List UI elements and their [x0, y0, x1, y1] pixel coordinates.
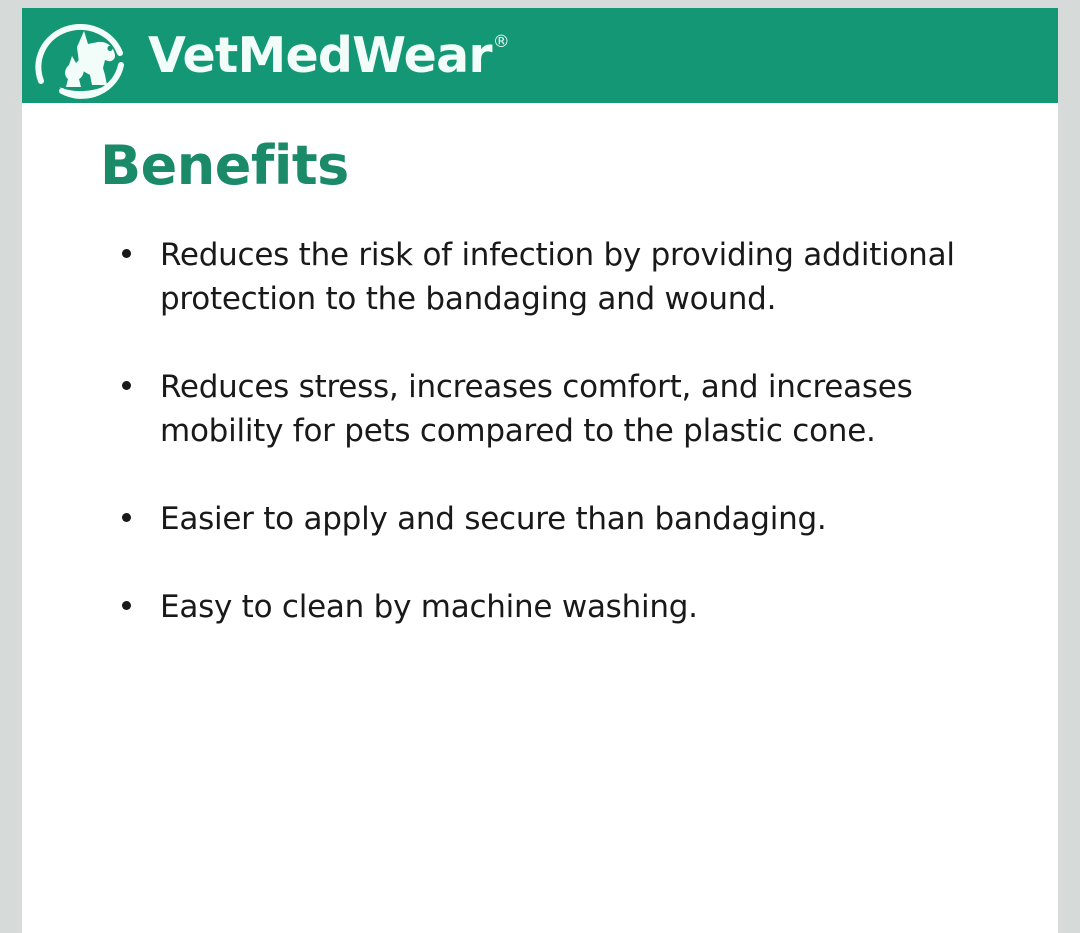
bullet-icon [122, 249, 131, 258]
list-item: Easier to apply and secure than bandagin… [118, 497, 998, 541]
dog-cat-silhouette-icon [28, 13, 130, 101]
list-item-text: Reduces the risk of infection by providi… [160, 237, 955, 317]
list-item: Easy to clean by machine washing. [118, 585, 998, 629]
list-item-text: Easy to clean by machine washing. [160, 589, 698, 625]
brand-wordmark: VetMedWear ® [148, 31, 510, 80]
slide-content: Benefits Reduces the risk of infection b… [22, 103, 1058, 933]
bullet-icon [122, 381, 131, 390]
bullet-icon [122, 513, 131, 522]
list-item-text: Reduces stress, increases comfort, and i… [160, 369, 912, 449]
list-item: Reduces stress, increases comfort, and i… [118, 365, 998, 453]
bullet-icon [122, 601, 131, 610]
brand-name: VetMedWear [148, 31, 492, 80]
list-item: Reduces the risk of infection by providi… [118, 233, 998, 321]
list-item-text: Easier to apply and secure than bandagin… [160, 501, 827, 537]
brand-header: VetMedWear ® [22, 8, 1058, 103]
slide-frame: VetMedWear ® Benefits Reduces the risk o… [22, 8, 1058, 933]
page-title: Benefits [100, 138, 349, 195]
registered-trademark-icon: ® [493, 34, 510, 51]
benefits-list: Reduces the risk of infection by providi… [118, 233, 998, 629]
